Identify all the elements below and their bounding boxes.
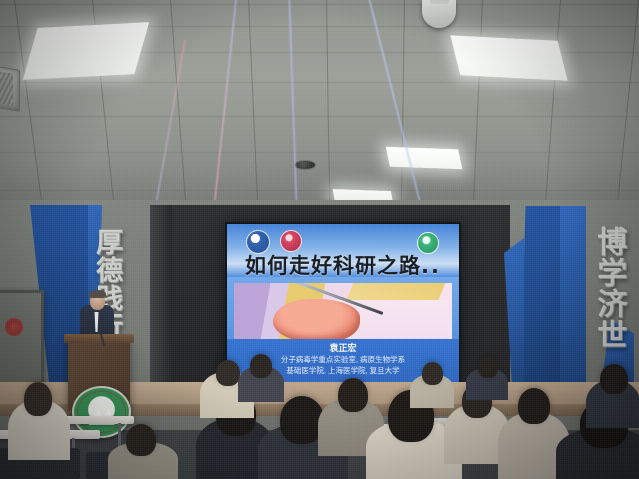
ceiling (0, 0, 639, 218)
speaker-hair (89, 290, 106, 298)
institution-seal-icon (5, 318, 23, 336)
photo-hand (273, 299, 360, 343)
ceiling-tile-line (326, 0, 330, 218)
slide-title-text: 如何走好科研之路 (245, 254, 421, 278)
ceiling-tile-line (248, 0, 259, 218)
slide-speaker-name: 袁正宏 (227, 342, 459, 354)
ceiling-tile-line (544, 0, 561, 217)
ceiling-tile-line (0, 152, 639, 153)
right-wall-blue-panel-2 (560, 206, 586, 392)
ceiling-speaker-icon (294, 160, 316, 170)
wall-board (0, 290, 44, 388)
ceiling-tile-line (0, 116, 639, 117)
slide-photo (234, 283, 452, 342)
audience-head (422, 362, 443, 385)
lecture-hall-photo: 厚德践行 博学济世 如何走好科研之路.. 袁正宏 分子病毒学重点 (0, 0, 639, 479)
right-wall-motto: 博学济世 (592, 226, 624, 350)
slide-title-suffix: .. (421, 254, 441, 278)
audience-head (518, 388, 550, 424)
slide-title: 如何走好科研之路.. (227, 250, 459, 280)
ceiling-tile-line (0, 82, 639, 83)
audience-head (250, 354, 272, 378)
ceiling-light-2 (450, 35, 567, 81)
audience-head (216, 360, 240, 386)
audience-head (126, 424, 156, 456)
ceiling-tile-line (473, 0, 484, 218)
audience-head (338, 378, 368, 412)
ceiling-light-1 (23, 22, 150, 80)
screen-wall-recess-edge (150, 205, 172, 385)
ceiling-tile-line (616, 0, 639, 217)
ceiling-light-3 (386, 147, 463, 170)
audience-head (600, 364, 628, 394)
audience-head (478, 356, 498, 378)
ceiling-tile-line (0, 4, 639, 5)
podium-top-surface (64, 334, 134, 343)
audience-head (24, 382, 52, 416)
ceiling-tile-line (401, 0, 405, 218)
ceiling-tile-line (0, 190, 639, 191)
